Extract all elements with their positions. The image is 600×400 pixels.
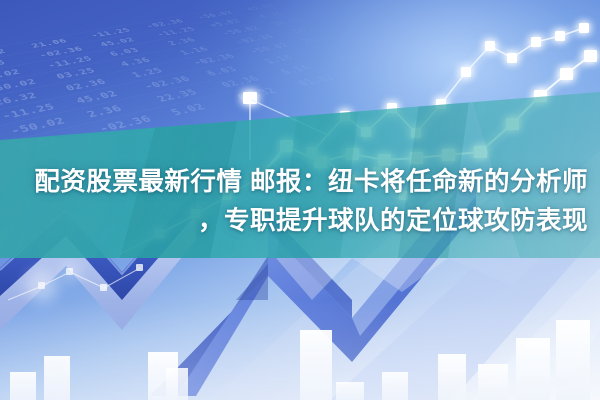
news-banner: -02.36-50.0245.0221.06-11.25-02.36-50.02… — [0, 0, 600, 400]
glow-cluster-left — [8, 262, 143, 302]
headline-line-2: ，专职提升球队的定位球攻防表现 — [0, 202, 588, 241]
headline-line-1: 配资股票最新行情 邮报：纽卡将任命新的分析师 — [0, 163, 588, 202]
headline: 配资股票最新行情 邮报：纽卡将任命新的分析师 ，专职提升球队的定位球攻防表现 — [0, 163, 600, 241]
